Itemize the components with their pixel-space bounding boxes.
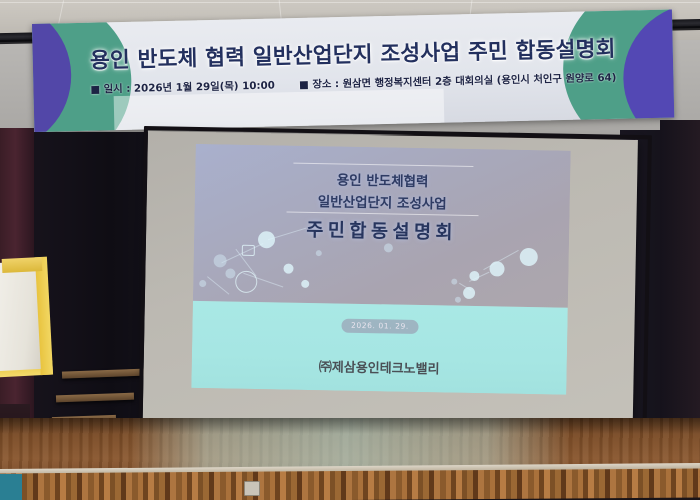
- presentation-hall-photo: 용인 반도체 협력 일반산업단지 조성사업 주민 합동설명회 ■ 일시 : 20…: [0, 0, 700, 500]
- stage-apron-panel: [0, 469, 700, 500]
- projection-screen-frame: [138, 126, 652, 449]
- ceremonial-flag: [0, 261, 41, 371]
- stage-steps: [52, 370, 152, 424]
- side-curtain-far-right: [660, 120, 700, 430]
- floor-outlet: [244, 481, 260, 496]
- floor-shadow-band: [0, 418, 700, 434]
- flag-header-band: [2, 257, 43, 273]
- apron-left-panel: [0, 474, 22, 500]
- event-banner: 용인 반도체 협력 일반산업단지 조성사업 주민 합동설명회 ■ 일시 : 20…: [32, 9, 674, 131]
